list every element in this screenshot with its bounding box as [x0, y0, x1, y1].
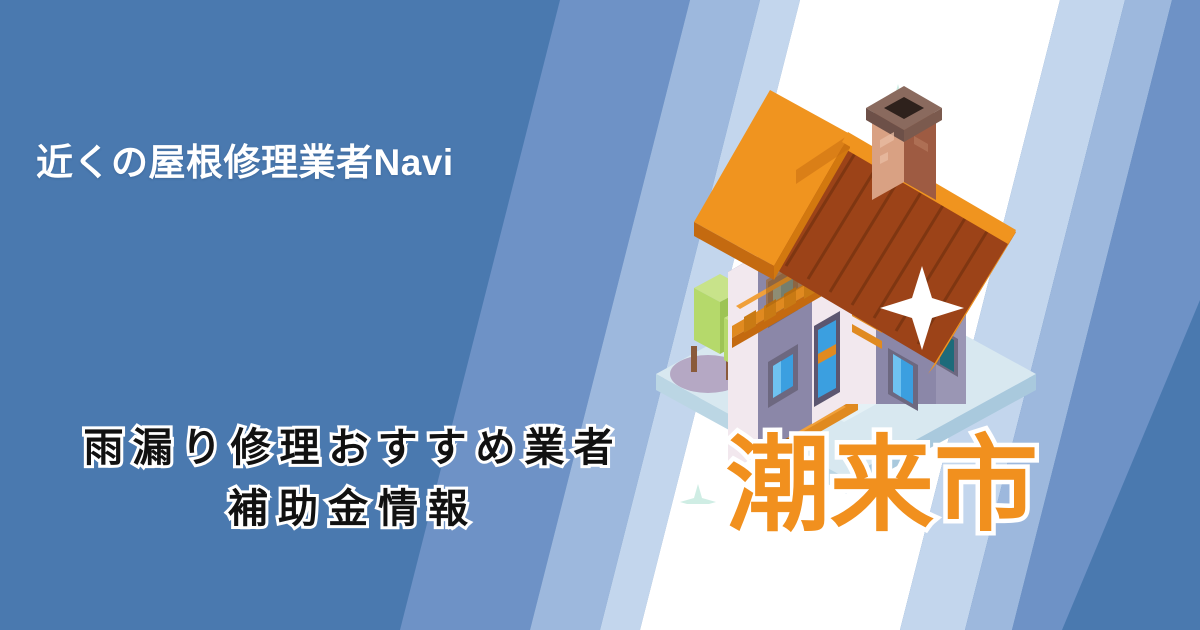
banner-card: 近くの屋根修理業者Navi 雨漏り修理おすすめ業者 補助金情報 潮来市 — [0, 0, 1200, 630]
headline-line-1: 雨漏り修理おすすめ業者 — [0, 418, 706, 479]
headline-line-2: 補助金情報 — [0, 479, 706, 540]
house-door — [814, 311, 840, 407]
city-name: 潮来市 — [726, 432, 1038, 541]
site-title: 近くの屋根修理業者Navi — [36, 132, 454, 186]
headline: 雨漏り修理おすすめ業者 補助金情報 — [0, 418, 706, 540]
